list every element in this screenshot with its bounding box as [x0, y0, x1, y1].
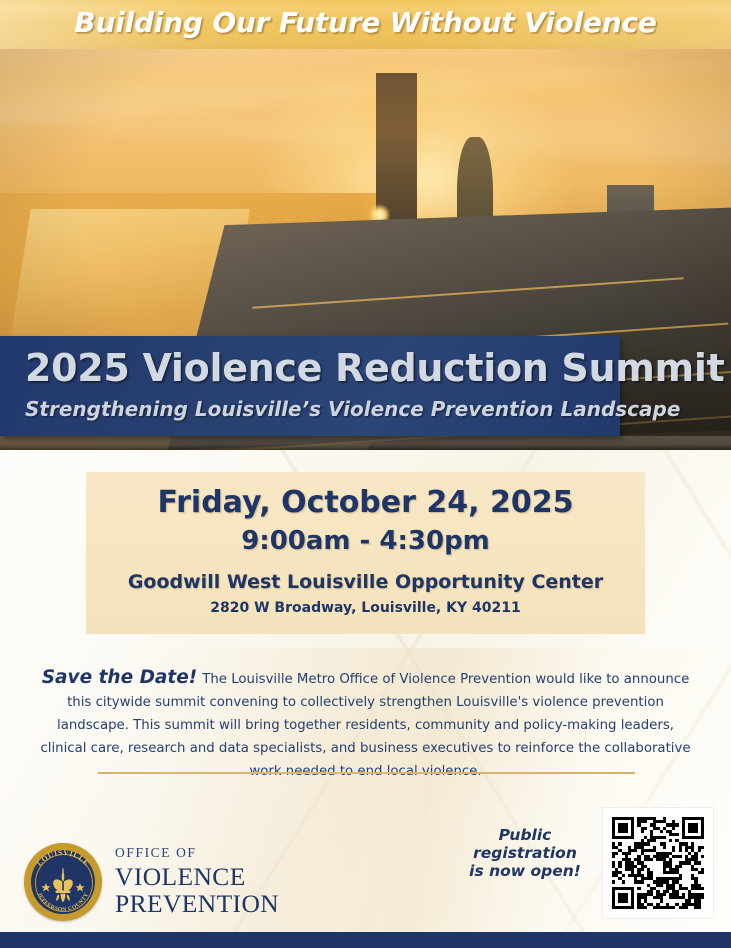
- poster-flyer: Building Our Future Without Violence 202…: [0, 0, 731, 948]
- event-address: 2820 W Broadway, Louisville, KY 40211: [86, 600, 645, 616]
- gold-divider: [98, 772, 635, 774]
- seal-emblem: LOUISVILLE JEFFERSON COUNTY: [24, 843, 102, 921]
- save-the-date-lead: Save the Date!: [42, 667, 203, 688]
- ovp-logo-lockup: LOUISVILLE JEFFERSON COUNTY: [24, 843, 279, 921]
- event-venue: Goodwill West Louisville Opportunity Cen…: [86, 571, 645, 593]
- wordmark-violence: VIOLENCE: [115, 863, 279, 891]
- registration-qr-code[interactable]: [603, 808, 713, 918]
- registration-line-2: is now open!: [452, 862, 598, 880]
- event-date: Friday, October 24, 2025: [86, 485, 645, 520]
- registration-callout: Public registration is now open!: [452, 826, 598, 880]
- fleur-de-lis-icon: [53, 868, 73, 903]
- header-tagline: Building Our Future Without Violence: [0, 6, 731, 39]
- registration-line-1: Public registration: [452, 826, 598, 862]
- louisville-jefferson-county-seal-icon: LOUISVILLE JEFFERSON COUNTY: [24, 843, 102, 921]
- star-left-icon: [41, 883, 50, 892]
- description-paragraph: Save the Date!The Louisville Metro Offic…: [34, 666, 697, 783]
- title-banner: 2025 Violence Reduction Summit Strengthe…: [0, 336, 620, 436]
- event-subtitle: Strengthening Louisville’s Violence Prev…: [25, 397, 680, 421]
- description-text: The Louisville Metro Office of Violence …: [40, 672, 690, 779]
- photo-lower-edge: [0, 436, 731, 450]
- star-right-icon: [75, 883, 84, 892]
- event-details-box: Friday, October 24, 2025 9:00am - 4:30pm…: [86, 472, 645, 634]
- event-time: 9:00am - 4:30pm: [86, 526, 645, 556]
- wordmark-prevention: PREVENTION: [115, 890, 279, 918]
- svg-text:LOUISVILLE: LOUISVILLE: [35, 848, 92, 868]
- qr-matrix: [612, 817, 704, 909]
- event-title: 2025 Violence Reduction Summit: [25, 346, 724, 390]
- footer-bar: [0, 932, 731, 948]
- wordmark-office-of: OFFICE OF: [115, 846, 279, 860]
- ovp-wordmark: OFFICE OF VIOLENCE PREVENTION: [115, 846, 279, 918]
